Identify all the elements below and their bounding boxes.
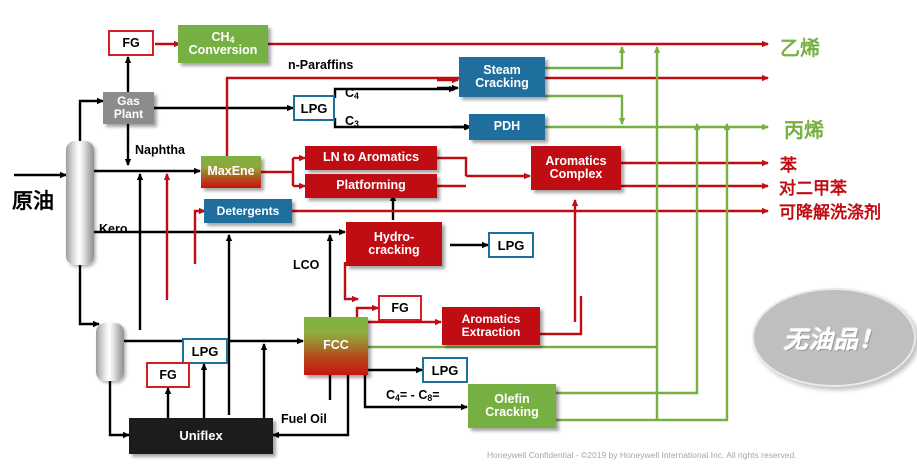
tag-lpg-hydrocracking-label: LPG [498, 238, 525, 253]
olefin-cracking-label-2: Cracking [485, 406, 539, 420]
olefin-cracking-label-1: Olefin [494, 393, 529, 407]
output-paraxylene: 对二甲苯 [779, 174, 847, 199]
maxene-label: MaxEne [207, 165, 254, 179]
tag-lpg-gasplant[interactable]: LPG [293, 95, 335, 121]
aromatics-complex-label-1: Aromatics [545, 155, 606, 169]
node-detergents[interactable]: Detergents [204, 199, 292, 223]
label-kero: Kero [99, 222, 127, 236]
node-uniflex[interactable]: Uniflex [129, 418, 273, 454]
node-hydrocracking[interactable]: Hydro- cracking [346, 222, 442, 266]
output-propylene: 丙烯 [784, 114, 824, 143]
gas-plant-label-2: Plant [114, 108, 143, 121]
footer-copyright: Honeywell Confidential - ©2019 by Honeyw… [487, 450, 797, 460]
tag-lpg-hydrocracking[interactable]: LPG [488, 232, 534, 258]
tag-fg-uniflex[interactable]: FG [146, 362, 190, 388]
tag-lpg-fcc-label: LPG [432, 363, 459, 378]
ch4-conversion-label-2: Conversion [189, 44, 258, 58]
node-ch4-conversion[interactable]: CH4 Conversion [178, 25, 268, 63]
node-olefin-cracking[interactable]: Olefin Cracking [468, 384, 556, 428]
tag-fg-fcc-label: FG [391, 301, 408, 315]
label-naphtha: Naphtha [135, 143, 185, 157]
label-olefin-feed: C4= - C8= [386, 388, 440, 402]
tag-lpg-uniflex-label: LPG [192, 344, 219, 359]
node-pdh[interactable]: PDH [469, 114, 545, 140]
node-aromatics-extraction[interactable]: Aromatics Extraction [442, 307, 540, 345]
fcc-label: FCC [323, 339, 349, 353]
node-ln-to-aromatics[interactable]: LN to Aromatics [305, 146, 437, 170]
process-flow-diagram: Gas Plant CH4 Conversion MaxEne Detergen… [0, 0, 917, 471]
output-biodegradable-detergent: 可降解洗涤剂 [779, 198, 881, 223]
node-aromatics-complex[interactable]: Aromatics Complex [531, 146, 621, 190]
vacuum-column [96, 323, 124, 381]
uniflex-label: Uniflex [179, 429, 222, 443]
hydrocracking-label-2: cracking [368, 244, 419, 258]
detergents-label: Detergents [217, 205, 280, 218]
output-benzene: 苯 [780, 151, 797, 176]
tag-lpg-gasplant-label: LPG [301, 101, 328, 116]
steam-cracking-label-2: Cracking [475, 77, 529, 91]
aromatics-extraction-label-2: Extraction [462, 326, 521, 339]
label-crude-oil: 原油 [12, 185, 54, 215]
node-gas-plant[interactable]: Gas Plant [103, 92, 154, 124]
steam-cracking-label-1: Steam [483, 64, 521, 78]
ln-to-aromatics-label: LN to Aromatics [323, 151, 419, 165]
tag-fg-gasplant-label: FG [122, 36, 139, 50]
label-c3: C3 [345, 114, 359, 128]
aromatics-complex-label-2: Complex [550, 168, 603, 182]
tag-fg-fcc[interactable]: FG [378, 295, 422, 321]
platforming-label: Platforming [336, 179, 405, 193]
tag-fg-gasplant[interactable]: FG [108, 30, 154, 56]
callout-no-fuel-products: 无油品！ [752, 288, 916, 387]
node-maxene[interactable]: MaxEne [201, 156, 261, 188]
node-fcc[interactable]: FCC [304, 317, 368, 375]
callout-text: 无油品！ [784, 320, 884, 355]
tag-fg-uniflex-label: FG [159, 368, 176, 382]
output-ethylene: 乙烯 [780, 32, 820, 61]
tag-lpg-fcc[interactable]: LPG [422, 357, 468, 383]
node-platforming[interactable]: Platforming [305, 174, 437, 198]
label-fuel-oil: Fuel Oil [281, 412, 327, 426]
tag-lpg-uniflex[interactable]: LPG [182, 338, 228, 364]
ch4-conversion-label-1: CH4 [212, 31, 235, 45]
crude-distillation-column [66, 141, 94, 265]
hydrocracking-label-1: Hydro- [374, 231, 414, 245]
label-c4: C4 [345, 86, 359, 100]
pdh-label: PDH [494, 120, 520, 134]
label-lco: LCO [293, 258, 319, 272]
label-n-paraffins: n-Paraffins [288, 58, 353, 72]
node-steam-cracking[interactable]: Steam Cracking [459, 57, 545, 97]
